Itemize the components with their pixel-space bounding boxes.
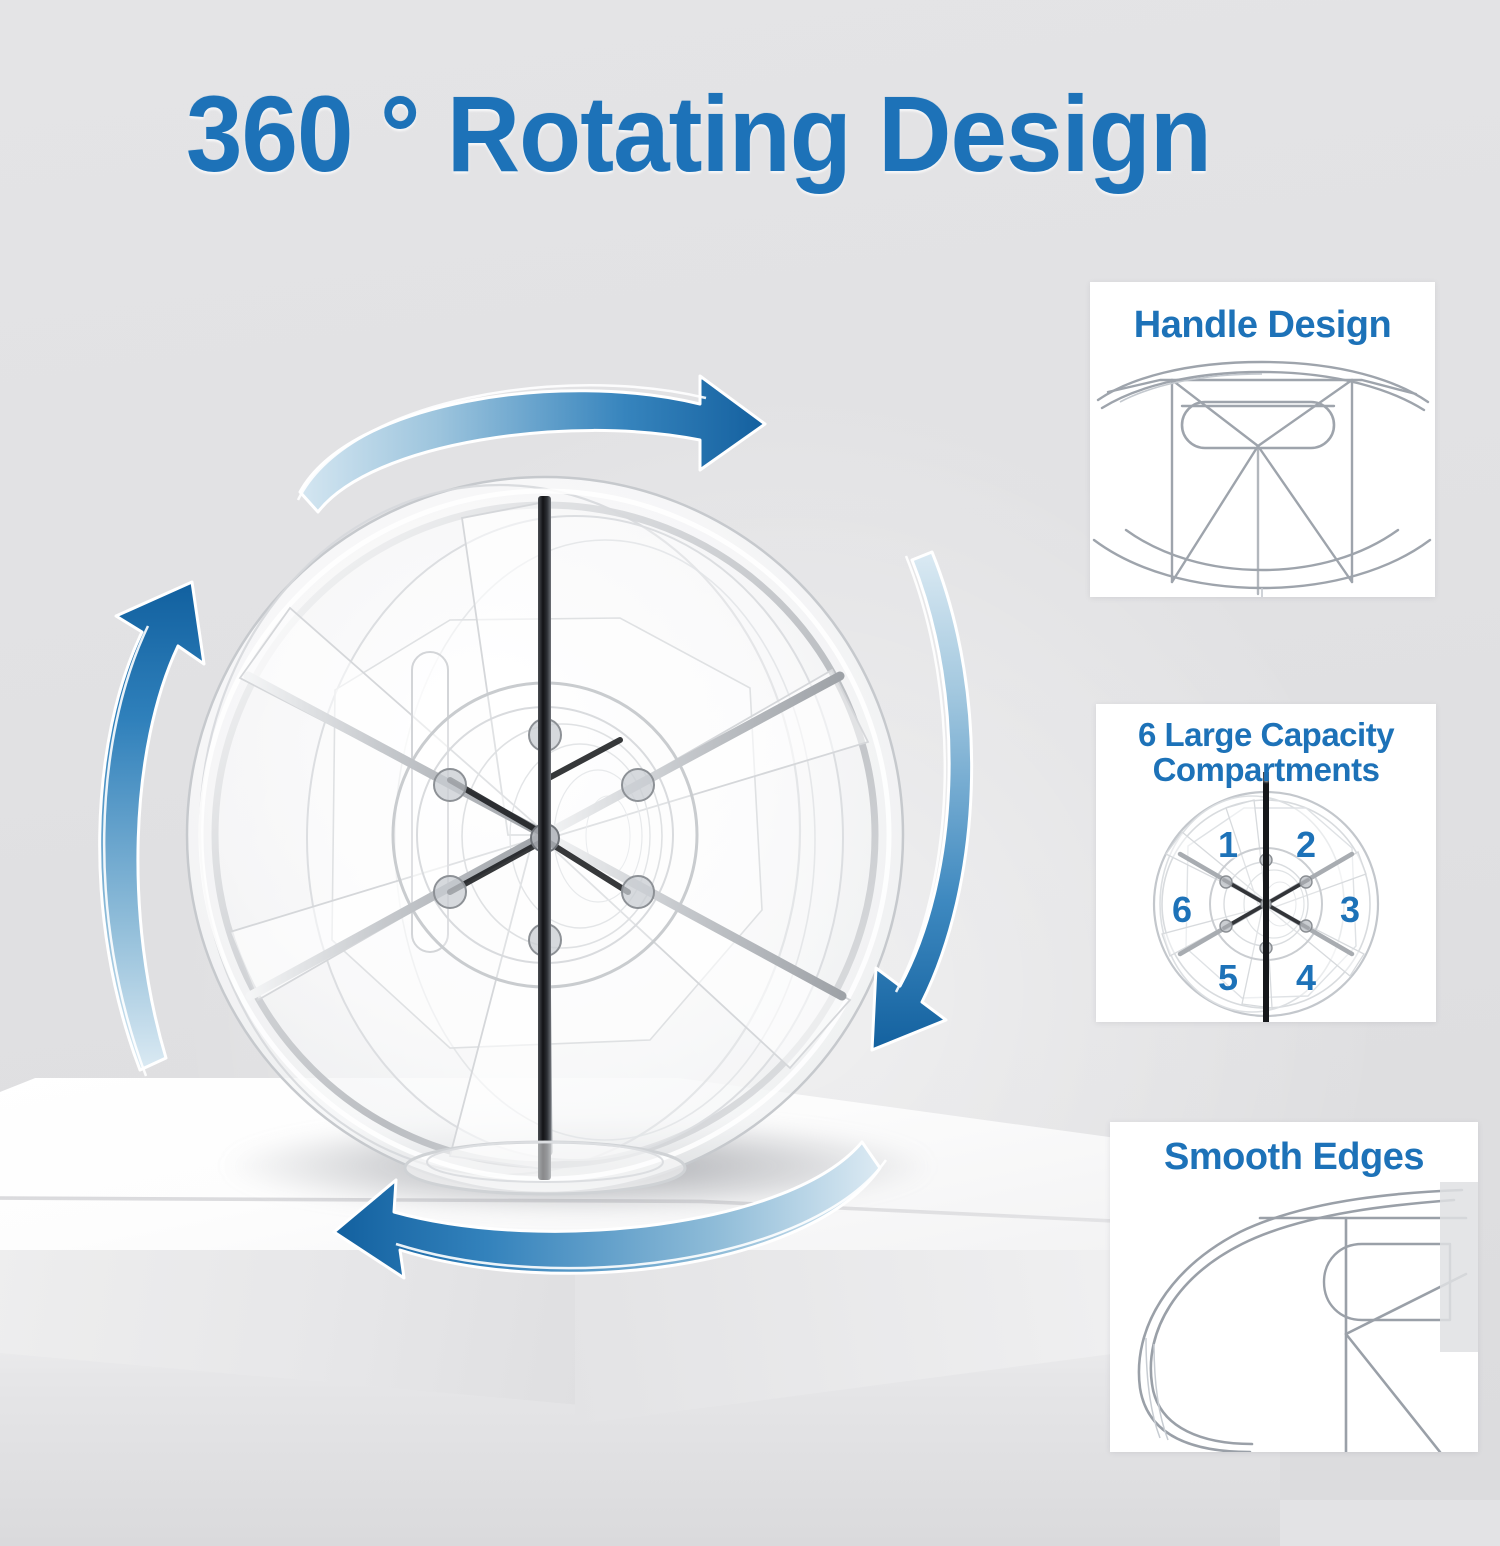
compartment-number-6: 6 — [1172, 889, 1192, 931]
panel-title-handle-design: Handle Design — [1090, 304, 1435, 347]
panel-title-compartments: 6 Large Capacity Compartments — [1096, 718, 1436, 788]
center-post — [538, 496, 551, 1180]
compartment-number-5: 5 — [1218, 957, 1238, 999]
compartment-number-3: 3 — [1340, 889, 1360, 931]
main-product-image — [150, 440, 940, 1230]
product-feature-image: 360 ° Rotating Design — [0, 0, 1500, 1500]
feature-panel-compartments[interactable]: 1 2 3 4 5 6 6 Large Capacity Compartment… — [1096, 704, 1436, 1022]
compartment-number-1: 1 — [1218, 824, 1238, 866]
panel-title-smooth-edges: Smooth Edges — [1110, 1136, 1478, 1179]
feature-panel-handle-design[interactable]: Handle Design — [1090, 282, 1435, 597]
compartment-number-4: 4 — [1296, 957, 1316, 999]
page-title: 360 ° Rotating Design — [186, 80, 1211, 188]
compartment-number-2: 2 — [1296, 824, 1316, 866]
feature-panel-smooth-edges[interactable]: Smooth Edges — [1110, 1122, 1478, 1452]
